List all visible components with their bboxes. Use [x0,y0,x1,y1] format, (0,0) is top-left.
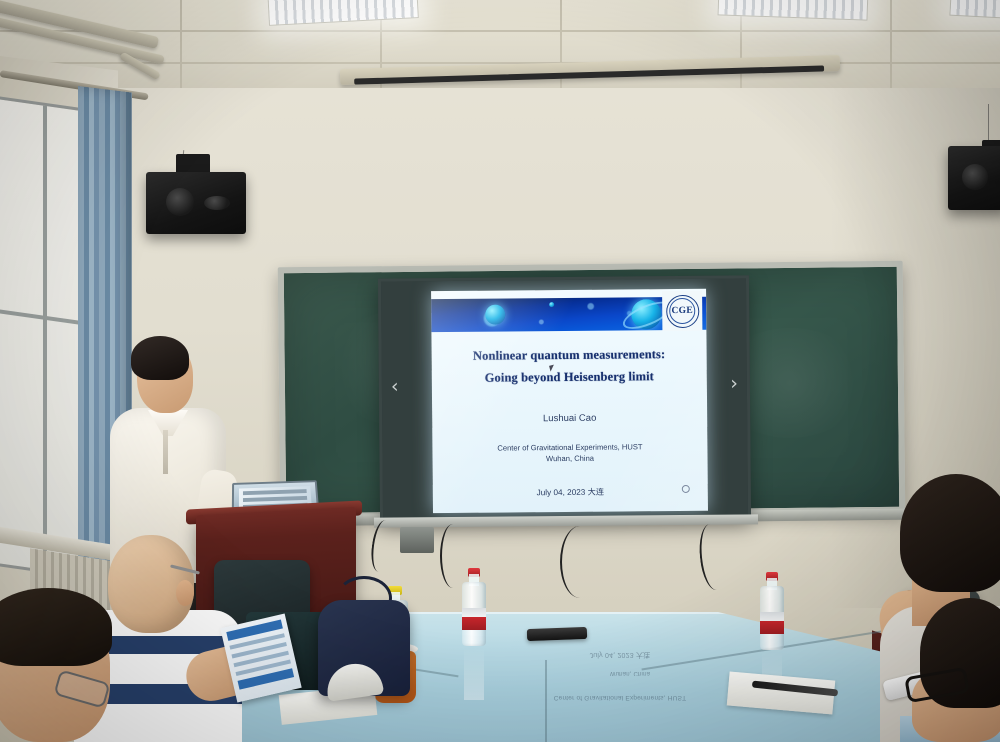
presenter-hair [131,336,189,380]
bottle-label [462,608,486,630]
projector-control-box [400,527,434,553]
wall-speaker-right [948,146,1000,210]
water-bottle-mid[interactable] [462,568,486,648]
projection-screen-surface: ‹ › CGE Nonlinear quantum measurements: … [381,278,748,517]
speaker-cone [166,188,194,216]
ceiling-grid-line [0,30,1000,32]
audience-bald-ear [176,580,194,606]
meeting-room-photo: ‹ › CGE Nonlinear quantum measurements: … [0,0,1000,742]
ceiling-grid-line [890,0,892,96]
slide-date-text: July 04, 2023 [537,488,586,497]
table-reflection-date: July 04, 2023 大连 [520,650,720,660]
window-mullion [43,106,47,577]
chevron-right-icon[interactable]: › [730,374,738,393]
wall-speaker-left [146,172,246,234]
slide-title-line2: Going beyond Heisenberg limit [432,369,707,386]
water-bottle-right[interactable] [760,572,784,652]
speaker-tweeter [204,196,230,210]
cable [560,526,600,598]
table-reflection-city: Wuhan, China [540,670,720,676]
bottle-label [760,612,784,634]
slide-date: July 04, 2023 大连 [433,485,708,499]
ceiling-grid-line [560,0,562,96]
planet-icon [485,305,505,325]
slide-affiliation: Center of Gravitational Experiments, HUS… [432,441,707,465]
table-reflection-affiliation: Center of Gravitational Experiments, HUS… [490,694,750,701]
audience-right-hair [900,474,1000,592]
cge-logo-text: CGE [671,306,693,316]
slide-author: Lushuai Cao [432,412,707,425]
bottle-reflection [464,648,484,700]
slide-date-city: 大连 [588,487,604,497]
audience-left-hair [0,588,112,666]
speaker-cone [962,164,988,190]
cge-seal: CGE [666,294,699,327]
chevron-left-icon[interactable]: ‹ [391,377,399,396]
projection-screen[interactable]: ‹ › CGE Nonlinear quantum measurements: … [378,275,751,520]
slide-title-line1: Nonlinear quantum measurements: [432,347,707,364]
presentation-slide: CGE Nonlinear quantum measurements: Goin… [431,289,708,513]
smartphone[interactable] [527,627,587,641]
star-icon [549,302,554,307]
slide-affiliation-line2: Wuhan, China [432,452,707,465]
presenter-placket [163,430,168,474]
slide-circle-marker [682,485,690,493]
cge-logo: CGE [662,291,702,331]
ceiling-grid-line [180,0,182,96]
